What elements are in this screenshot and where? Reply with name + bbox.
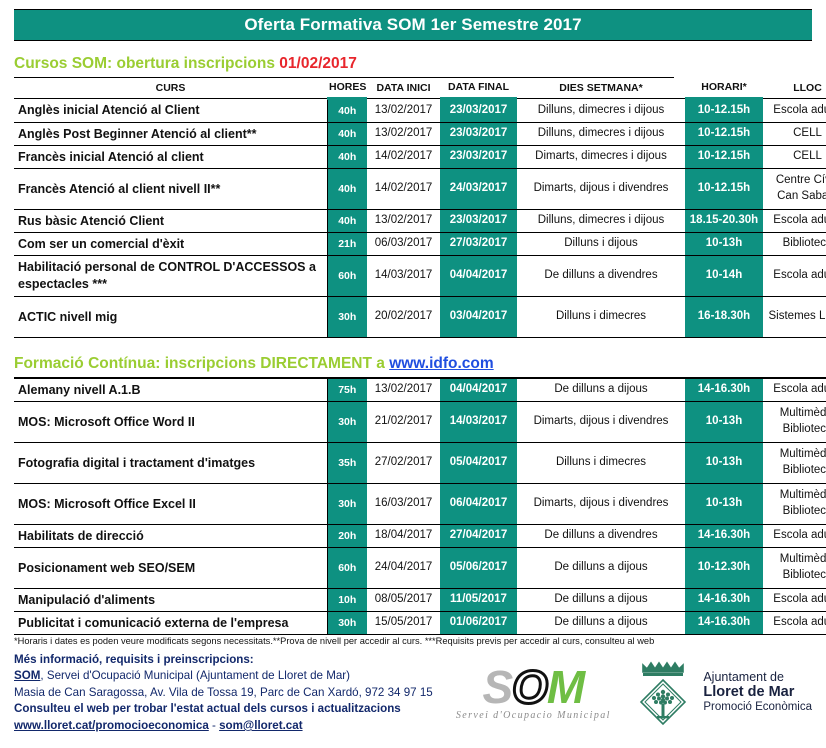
som-letter-o: O [512, 661, 547, 713]
course-name-cell: ACTIC nivell mig [14, 297, 327, 338]
start-date-cell: 16/03/2017 [367, 484, 440, 525]
som-letter-s: S [482, 661, 512, 713]
hours-cell: 30h [327, 402, 367, 443]
end-date-cell: 24/03/2017 [440, 169, 517, 210]
ajuntament-logo: Ajuntament de Lloret de Mar Promoció Eco… [631, 658, 812, 728]
start-date-cell: 13/02/2017 [367, 99, 440, 123]
hours-cell: 75h [327, 379, 367, 402]
course-name-cell: Fotografia digital i tractament d'imatge… [14, 443, 327, 484]
hours-cell: 40h [327, 146, 367, 169]
location-cell: Escola adults [763, 589, 826, 612]
table-row: Habilitació personal de CONTROL D'ACCESS… [14, 256, 826, 297]
end-date-cell: 23/03/2017 [440, 99, 517, 123]
schedule-time-cell: 14-16.30h [685, 612, 763, 635]
page-title: Oferta Formativa SOM 1er Semestre 2017 [244, 15, 581, 35]
location-cell: Escola adults [763, 210, 826, 233]
table-header-row: CURS HORES DATA INICI DATA FINAL DIES SE… [14, 78, 826, 99]
weekdays-cell: Dilluns i dijous [517, 233, 685, 256]
hours-cell: 30h [327, 484, 367, 525]
weekdays-cell: Dimarts, dimecres i dijous [517, 146, 685, 169]
table-row: MOS: Microsoft Office Excel II30h16/03/2… [14, 484, 826, 525]
start-date-cell: 18/04/2017 [367, 525, 440, 548]
schedule-time-cell: 16-18.30h [685, 297, 763, 338]
col-header-data-final: DATA FINAL [440, 78, 517, 99]
schedule-time-cell: 18.15-20.30h [685, 210, 763, 233]
start-date-cell: 14/02/2017 [367, 146, 440, 169]
section-header-formacio-continua: Formació Contínua: inscripcions DIRECTAM… [14, 350, 826, 378]
table-row: Anglès inicial Atenció al Client40h13/02… [14, 99, 826, 123]
end-date-cell: 23/03/2017 [440, 146, 517, 169]
schedule-time-cell: 10-13h [685, 484, 763, 525]
ajuntament-line-3: Promoció Econòmica [703, 700, 812, 715]
som-wordmark: SOM [445, 665, 621, 709]
location-cell: Escola adults [763, 99, 826, 123]
weekdays-cell: Dimarts, dijous i divendres [517, 402, 685, 443]
schedule-time-cell: 10-13h [685, 402, 763, 443]
start-date-cell: 14/02/2017 [367, 169, 440, 210]
footer-link-separator: - [209, 719, 219, 732]
col-header-lloc: LLOC [763, 78, 826, 99]
footer-som-label: SOM [14, 669, 40, 682]
col-header-curs: CURS [14, 78, 327, 99]
location-cell: Sistemes Linux [763, 297, 826, 338]
section-gap [14, 338, 812, 350]
website-link[interactable]: www.lloret.cat/promocioeconomica [14, 719, 209, 732]
course-name-cell: Habilitació personal de CONTROL D'ACCESS… [14, 256, 327, 297]
weekdays-cell: Dilluns i dimecres [517, 443, 685, 484]
table-row: Habilitats de direcció20h18/04/201727/04… [14, 525, 826, 548]
course-name-cell: Alemany nivell A.1.B [14, 379, 327, 402]
course-name-cell: Com ser un comercial d'èxit [14, 233, 327, 256]
schedule-time-cell: 10-13h [685, 233, 763, 256]
table-row: Com ser un comercial d'èxit21h06/03/2017… [14, 233, 826, 256]
ajuntament-line-1: Ajuntament de [703, 670, 812, 685]
weekdays-cell: Dimarts, dijous i divendres [517, 484, 685, 525]
end-date-cell: 27/03/2017 [440, 233, 517, 256]
weekdays-cell: Dilluns, dimecres i dijous [517, 123, 685, 146]
table-row: Publicitat i comunicació externa de l'em… [14, 612, 826, 635]
start-date-cell: 27/02/2017 [367, 443, 440, 484]
end-date-cell: 27/04/2017 [440, 525, 517, 548]
poster-title-bar: Oferta Formativa SOM 1er Semestre 2017 [14, 9, 812, 41]
schedule-time-cell: 10-12.15h [685, 169, 763, 210]
start-date-cell: 13/02/2017 [367, 210, 440, 233]
table-row: Rus bàsic Atenció Client40h13/02/201723/… [14, 210, 826, 233]
location-cell: Multimèdia Biblioteca [763, 402, 826, 443]
idfo-link[interactable]: www.idfo.com [389, 355, 493, 373]
start-date-cell: 13/02/2017 [367, 379, 440, 402]
hours-cell: 10h [327, 589, 367, 612]
schedule-time-cell: 10-12.15h [685, 123, 763, 146]
col-header-horari: HORARI* [685, 78, 763, 99]
location-cell: Biblioteca [763, 233, 826, 256]
hours-cell: 40h [327, 123, 367, 146]
course-name-cell: MOS: Microsoft Office Word II [14, 402, 327, 443]
col-header-data-inici: DATA INICI [367, 78, 440, 99]
table-row: Francès Atenció al client nivell II**40h… [14, 169, 826, 210]
end-date-cell: 04/04/2017 [440, 256, 517, 297]
ajuntament-text: Ajuntament de Lloret de Mar Promoció Eco… [703, 670, 812, 715]
start-date-cell: 06/03/2017 [367, 233, 440, 256]
end-date-cell: 05/04/2017 [440, 443, 517, 484]
som-tagline: Servei d'Ocupacio Municipal [445, 710, 621, 721]
weekdays-cell: Dilluns, dimecres i dijous [517, 99, 685, 123]
schedule-time-cell: 14-16.30h [685, 589, 763, 612]
schedule-time-cell: 14-16.30h [685, 379, 763, 402]
schedule-time-cell: 10-12.15h [685, 99, 763, 123]
hours-cell: 30h [327, 297, 367, 338]
hours-cell: 21h [327, 233, 367, 256]
location-cell: CELL [763, 146, 826, 169]
weekdays-cell: Dilluns, dimecres i dijous [517, 210, 685, 233]
lloret-crest-icon [631, 658, 695, 728]
location-cell: Multimèdia Biblioteca [763, 548, 826, 589]
weekdays-cell: De dilluns a dijous [517, 379, 685, 402]
col-header-dies-setmana: DIES SETMANA* [517, 78, 685, 99]
location-cell: Escola adults [763, 379, 826, 402]
location-cell: Multimèdia Biblioteca [763, 443, 826, 484]
location-cell: Centre Cívic Can Sabata [763, 169, 826, 210]
email-link[interactable]: som@lloret.cat [219, 719, 302, 732]
start-date-cell: 20/02/2017 [367, 297, 440, 338]
course-name-cell: Anglès inicial Atenció al Client [14, 99, 327, 123]
hours-cell: 60h [327, 548, 367, 589]
course-name-cell: Publicitat i comunicació externa de l'em… [14, 612, 327, 635]
course-name-cell: Manipulació d'aliments [14, 589, 327, 612]
end-date-cell: 23/03/2017 [440, 210, 517, 233]
end-date-cell: 01/06/2017 [440, 612, 517, 635]
schedule-time-cell: 10-12.15h [685, 146, 763, 169]
hours-cell: 40h [327, 169, 367, 210]
course-name-cell: Francès inicial Atenció al client [14, 146, 327, 169]
weekdays-cell: Dilluns i dimecres [517, 297, 685, 338]
weekdays-cell: Dimarts, dijous i divendres [517, 169, 685, 210]
section-header-cursos-som: Cursos SOM: obertura inscripcions 01/02/… [14, 50, 674, 78]
schedule-time-cell: 10-14h [685, 256, 763, 297]
hours-cell: 35h [327, 443, 367, 484]
weekdays-cell: De dilluns a dijous [517, 612, 685, 635]
som-logo: SOM Servei d'Ocupacio Municipal [445, 665, 621, 721]
location-cell: Escola adults [763, 612, 826, 635]
footer-som-rest: , Servei d'Ocupació Municipal (Ajuntamen… [40, 669, 350, 682]
start-date-cell: 24/04/2017 [367, 548, 440, 589]
col-header-hores: HORES [327, 78, 367, 99]
table-footnote: *Horaris i dates es poden veure modifica… [14, 636, 812, 648]
weekdays-cell: De dilluns a divendres [517, 525, 685, 548]
table-row: Anglès Post Beginner Atenció al client**… [14, 123, 826, 146]
table-row: Francès inicial Atenció al client40h14/0… [14, 146, 826, 169]
end-date-cell: 11/05/2017 [440, 589, 517, 612]
hours-cell: 60h [327, 256, 367, 297]
course-name-cell: Habilitats de direcció [14, 525, 327, 548]
table-row: Alemany nivell A.1.B75h13/02/201704/04/2… [14, 379, 826, 402]
weekdays-cell: De dilluns a dijous [517, 589, 685, 612]
course-name-cell: Rus bàsic Atenció Client [14, 210, 327, 233]
footer-logos: SOM Servei d'Ocupacio Municipal [445, 658, 812, 728]
end-date-cell: 03/04/2017 [440, 297, 517, 338]
schedule-time-cell: 14-16.30h [685, 525, 763, 548]
end-date-cell: 23/03/2017 [440, 123, 517, 146]
location-cell: CELL [763, 123, 826, 146]
hours-cell: 30h [327, 612, 367, 635]
poster-page: Oferta Formativa SOM 1er Semestre 2017 C… [0, 9, 826, 665]
start-date-cell: 15/05/2017 [367, 612, 440, 635]
poster-footer: Més informació, requisits i preinscripci… [14, 652, 812, 748]
courses-table-continua: Alemany nivell A.1.B75h13/02/201704/04/2… [14, 378, 826, 635]
start-date-cell: 21/02/2017 [367, 402, 440, 443]
section2-label: Formació Contínua: inscripcions DIRECTAM… [14, 355, 389, 373]
course-name-cell: Francès Atenció al client nivell II** [14, 169, 327, 210]
course-name-cell: Anglès Post Beginner Atenció al client** [14, 123, 327, 146]
schedule-time-cell: 10-13h [685, 443, 763, 484]
hours-cell: 20h [327, 525, 367, 548]
hours-cell: 40h [327, 210, 367, 233]
location-cell: Escola adults [763, 256, 826, 297]
end-date-cell: 05/06/2017 [440, 548, 517, 589]
course-name-cell: Posicionament web SEO/SEM [14, 548, 327, 589]
som-letter-m: M [547, 661, 584, 713]
location-cell: Multimèdia Biblioteca [763, 484, 826, 525]
table-row: MOS: Microsoft Office Word II30h21/02/20… [14, 402, 826, 443]
weekdays-cell: De dilluns a dijous [517, 548, 685, 589]
start-date-cell: 08/05/2017 [367, 589, 440, 612]
table-row: ACTIC nivell mig30h20/02/201703/04/2017D… [14, 297, 826, 338]
hours-cell: 40h [327, 99, 367, 123]
section1-label: Cursos SOM: obertura inscripcions [14, 55, 279, 73]
table-row: Fotografia digital i tractament d'imatge… [14, 443, 826, 484]
courses-table-som: CURS HORES DATA INICI DATA FINAL DIES SE… [14, 78, 826, 338]
weekdays-cell: De dilluns a divendres [517, 256, 685, 297]
table-row: Posicionament web SEO/SEM60h24/04/201705… [14, 548, 826, 589]
end-date-cell: 04/04/2017 [440, 379, 517, 402]
schedule-time-cell: 10-12.30h [685, 548, 763, 589]
location-cell: Escola adults [763, 525, 826, 548]
start-date-cell: 13/02/2017 [367, 123, 440, 146]
ajuntament-line-2: Lloret de Mar [703, 685, 812, 700]
end-date-cell: 06/04/2017 [440, 484, 517, 525]
course-name-cell: MOS: Microsoft Office Excel II [14, 484, 327, 525]
end-date-cell: 14/03/2017 [440, 402, 517, 443]
start-date-cell: 14/03/2017 [367, 256, 440, 297]
table-row: Manipulació d'aliments10h08/05/201711/05… [14, 589, 826, 612]
section1-date: 01/02/2017 [279, 55, 357, 73]
